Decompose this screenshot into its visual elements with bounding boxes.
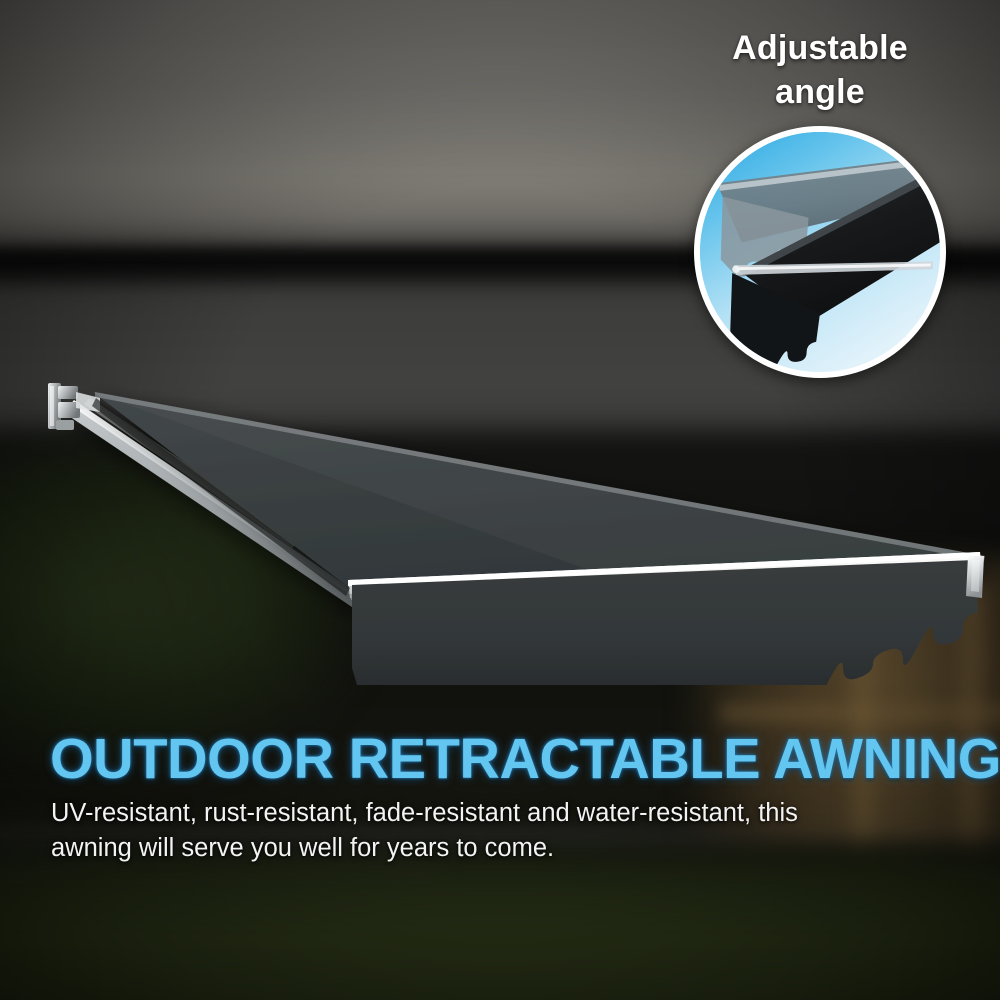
product-marketing-image: Adjustable angle OUTDOOR RETRACTABLE AWN… — [0, 0, 1000, 1000]
inset-illustration — [694, 126, 946, 378]
description-line-1: UV-resistant, rust-resistant, fade-resis… — [51, 796, 931, 831]
right-end-cap — [966, 556, 984, 598]
circular-zoom-detail-icon — [694, 126, 946, 378]
feature-callout: Adjustable angle — [640, 26, 1000, 114]
feature-callout-line1: Adjustable — [640, 26, 1000, 70]
page-title: OUTDOOR RETRACTABLE AWNING — [50, 728, 937, 790]
product-description: UV-resistant, rust-resistant, fade-resis… — [51, 796, 931, 866]
description-line-2: awning will serve you well for years to … — [51, 831, 931, 866]
feature-callout-line2: angle — [640, 70, 1000, 114]
